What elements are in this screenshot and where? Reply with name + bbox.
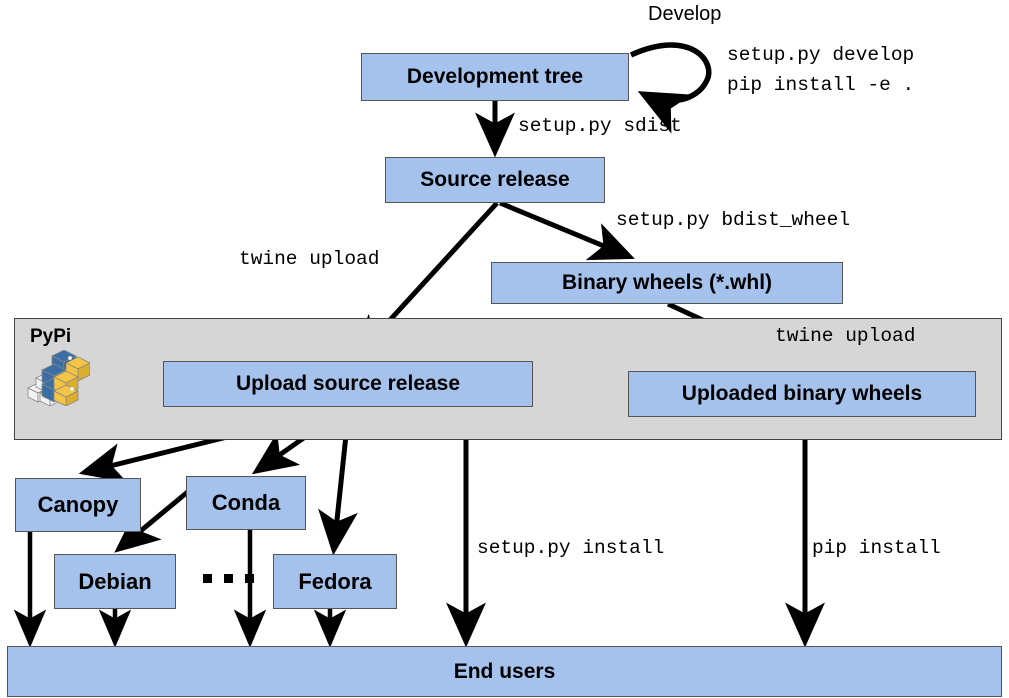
node-upload-source-release[interactable]: Upload source release [163,361,533,407]
edge-label-twine-upload-whl: twine upload [775,325,915,347]
node-debian[interactable]: Debian [54,554,176,609]
edge-label-setup-py-install: setup.py install [477,537,664,559]
edge-source-to-wheels [500,203,628,256]
more-distros-ellipsis [203,570,266,588]
pypi-region-label: PyPi [30,326,71,348]
node-development-tree[interactable]: Development tree [361,53,629,101]
edge-label-twine-upload-src: twine upload [239,248,379,270]
edge-label-pip-install: pip install [812,537,941,559]
node-conda[interactable]: Conda [186,476,306,530]
node-fedora[interactable]: Fedora [273,554,397,609]
python-cubes-logo [26,350,90,406]
edge-develop-selfloop [631,45,709,101]
edge-label-setup-py-develop: setup.py develop [727,44,914,66]
node-source-release[interactable]: Source release [385,157,605,203]
diagram-canvas: PyPi [0,0,1009,698]
edge-label-pip-install-e: pip install -e . [727,74,914,96]
node-binary-wheels[interactable]: Binary wheels (*.whl) [491,262,843,304]
edge-label-develop: Develop [648,3,721,26]
node-end-users[interactable]: End users [7,646,1002,697]
edge-label-setup-py-sdist: setup.py sdist [518,115,682,137]
node-uploaded-binary-wheels[interactable]: Uploaded binary wheels [628,371,976,417]
edge-label-setup-py-bdist: setup.py bdist_wheel [616,209,850,231]
node-canopy[interactable]: Canopy [15,478,141,532]
